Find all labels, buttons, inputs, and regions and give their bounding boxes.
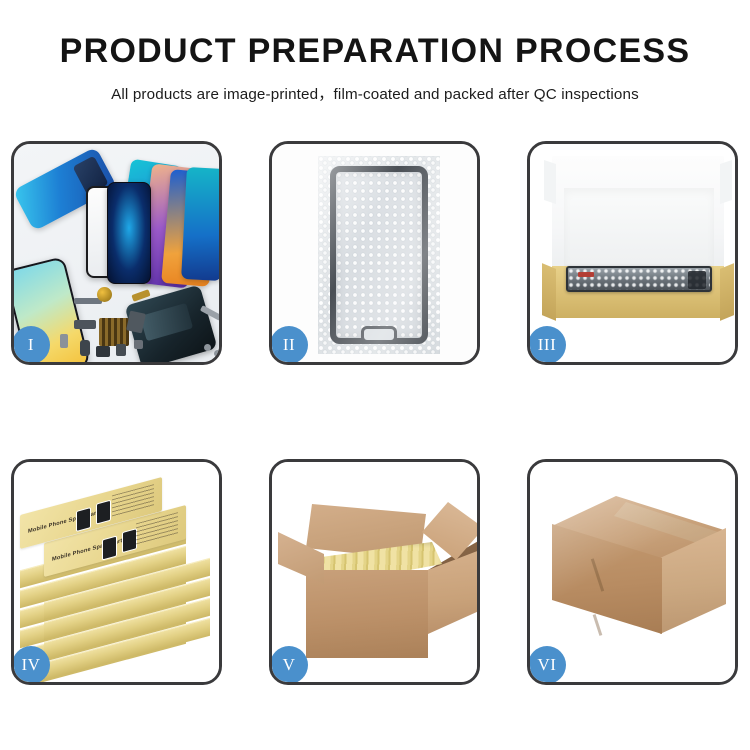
step-4-photo: Mobile Phone Spare Parts Mobile Phone Sp… <box>14 462 219 682</box>
spare-part-icon <box>99 318 129 346</box>
spare-part-icon <box>97 287 112 302</box>
process-step-panel-4: Mobile Phone Spare Parts Mobile Phone Sp… <box>11 459 222 685</box>
box-phone-thumb-icon <box>122 528 137 553</box>
step-badge-4: IV <box>12 646 50 684</box>
process-step-panel-2: II <box>269 141 480 365</box>
page-root: PRODUCT PREPARATION PROCESS All products… <box>0 0 750 750</box>
screen-in-box-icon <box>566 266 712 292</box>
spare-part-icon <box>134 340 143 349</box>
step-1-photo <box>14 144 219 362</box>
wrapped-phone-screen-icon <box>330 166 428 344</box>
step-badge-3: III <box>528 326 566 364</box>
page-header: PRODUCT PREPARATION PROCESS All products… <box>0 0 750 104</box>
spare-part-icon <box>74 320 96 329</box>
spare-part-icon <box>60 334 68 348</box>
carton-front-panel-icon <box>306 570 428 658</box>
tempered-glass-phone-icon <box>107 182 151 284</box>
step-badge-6: VI <box>528 646 566 684</box>
step-5-photo <box>272 462 477 682</box>
step-3-photo <box>530 144 735 362</box>
spare-part-icon <box>116 344 126 356</box>
process-step-panel-3: III <box>527 141 738 365</box>
step-6-photo <box>530 462 735 682</box>
page-subtitle: All products are image-printed，film-coat… <box>0 82 750 104</box>
box-phone-thumb-icon <box>102 535 117 560</box>
spare-part-icon <box>214 350 219 357</box>
page-title: PRODUCT PREPARATION PROCESS <box>0 34 750 70</box>
box-phone-thumb-icon <box>96 500 111 525</box>
phone-fan-4-icon <box>181 167 219 281</box>
box-phone-thumb-icon <box>76 507 91 532</box>
step-badge-1: I <box>12 326 50 364</box>
process-step-panel-6: VI <box>527 459 738 685</box>
step-2-photo <box>272 144 477 362</box>
spare-part-icon <box>96 346 110 357</box>
box-interior-icon <box>564 188 714 268</box>
process-step-panel-5: V <box>269 459 480 685</box>
box-spec-lines-icon <box>136 512 178 545</box>
spare-part-icon <box>204 344 211 351</box>
spare-part-icon <box>80 340 90 356</box>
process-step-panel-1: I <box>11 141 222 365</box>
process-step-grid: I II III <box>11 141 739 685</box>
box-spec-lines-icon <box>112 484 154 517</box>
carton-seam-icon <box>593 614 603 636</box>
step-badge-2: II <box>270 326 308 364</box>
step-badge-5: V <box>270 646 308 684</box>
